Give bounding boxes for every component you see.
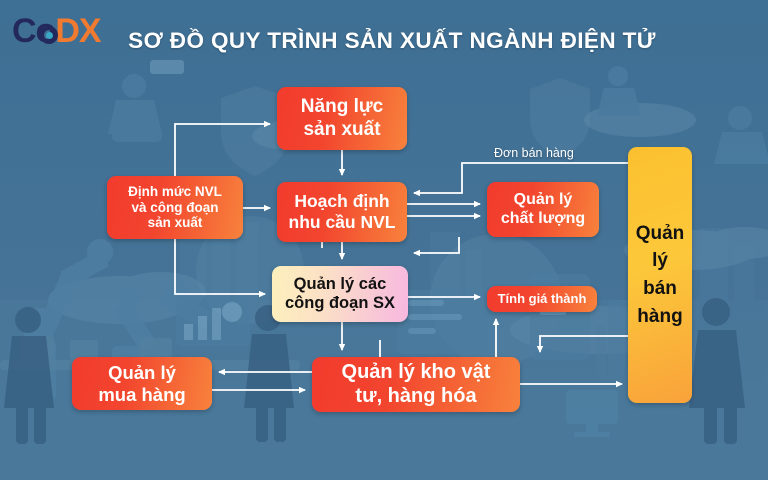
node-nang-luc-san-xuat[interactable]: Năng lực sản xuất (277, 87, 407, 150)
node-quan-ly-ban-hang[interactable]: Quản lý bán hàng (628, 147, 692, 403)
node-dinh-muc-nvl[interactable]: Định mức NVL và công đoạn sản xuất (107, 176, 243, 239)
node-quan-ly-cac-cong-doan-sx[interactable]: Quản lý các công đoạn SX (272, 266, 408, 322)
edge-label-don-ban-hang: Đơn bán hàng (494, 146, 574, 160)
node-quan-ly-chat-luong[interactable]: Quản lý chất lượng (487, 182, 599, 237)
infographic-canvas: CoDX SƠ ĐỒ QUY TRÌNH SẢN XUẤT NGÀNH ĐIỆN… (0, 0, 768, 480)
node-quan-ly-mua-hang[interactable]: Quản lý mua hàng (72, 357, 212, 410)
node-tinh-gia-thanh[interactable]: Tính giá thành (487, 286, 597, 312)
node-quan-ly-kho-vat-tu-hang-hoa[interactable]: Quản lý kho vật tư, hàng hóa (312, 357, 520, 412)
node-hoach-dinh-nhu-cau-nvl[interactable]: Hoạch định nhu cầu NVL (277, 182, 407, 242)
